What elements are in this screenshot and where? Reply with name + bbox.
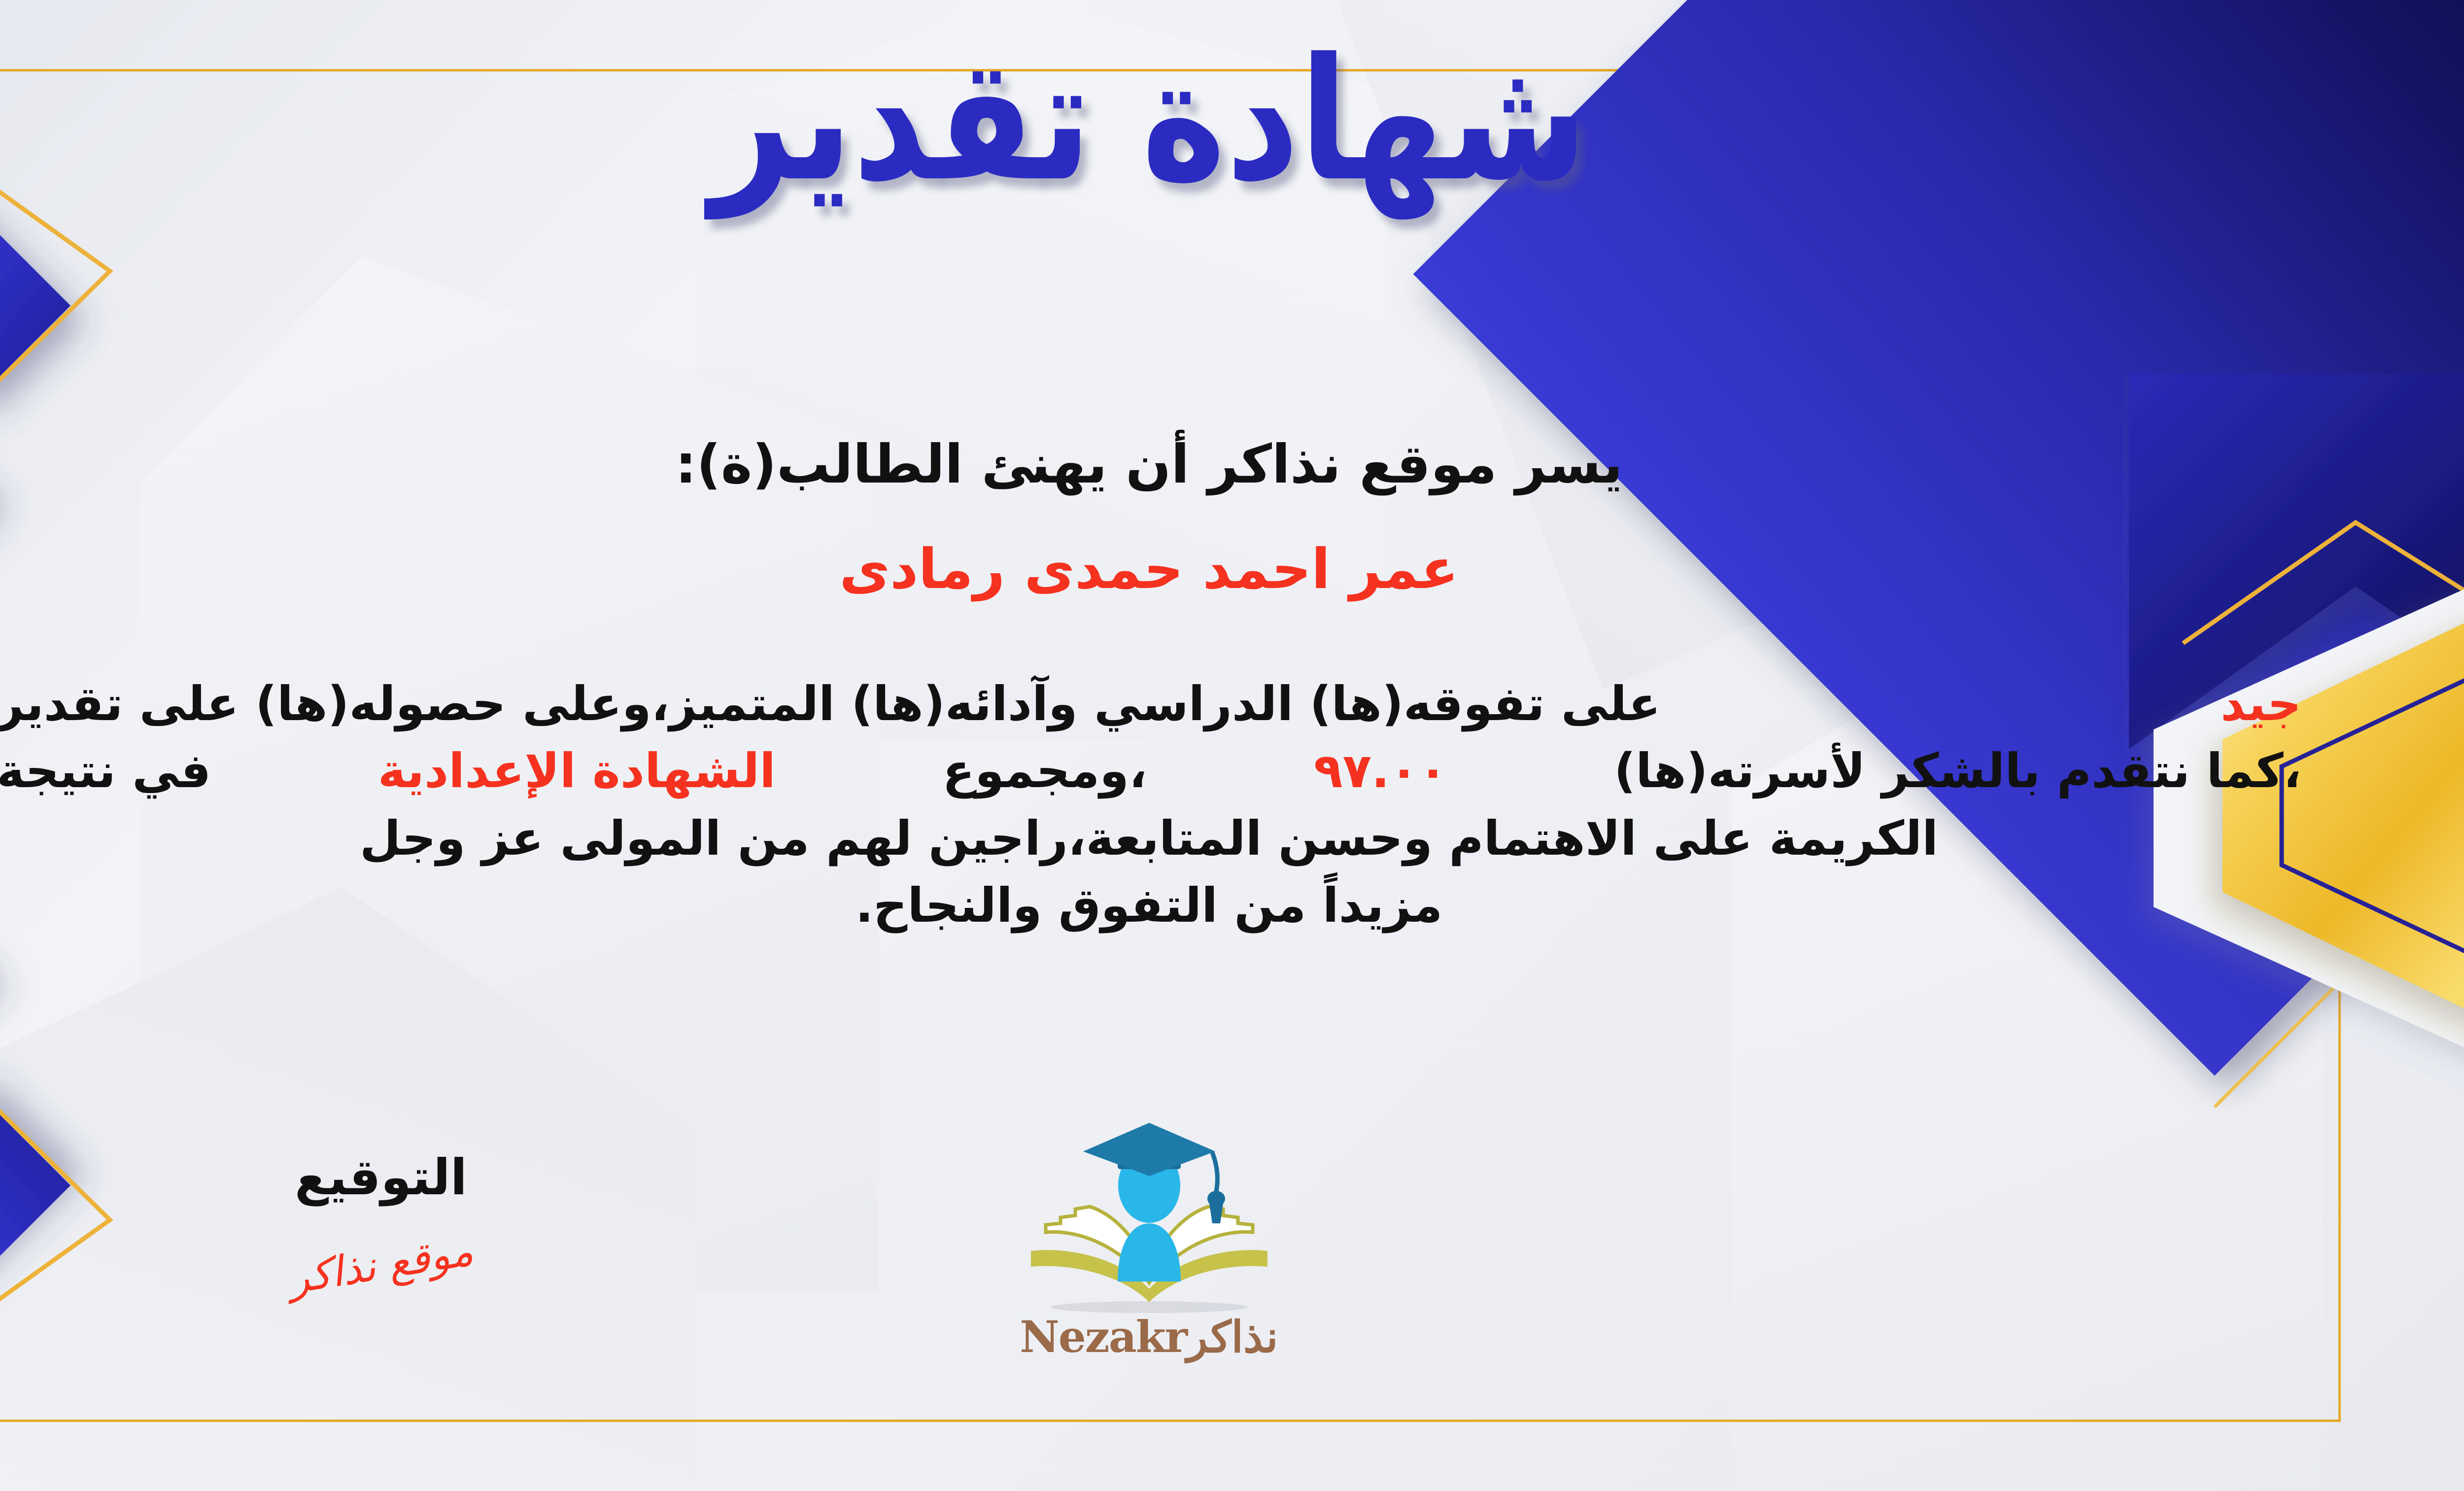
body-line-2: ،كما نتقدم بالشكر لأسرته(ها) ٩٧.٠٠ ،ومجم… bbox=[0, 737, 2301, 804]
body-line-1-text: على تفوقه(ها) الدراسي وآدائه(ها) المتميز… bbox=[0, 670, 1661, 737]
graduate-book-icon bbox=[1021, 1119, 1277, 1316]
body-line-2-tail: ،كما نتقدم بالشكر لأسرته(ها) bbox=[1614, 737, 2301, 804]
exam-name: الشهادة الإعدادية bbox=[378, 737, 776, 804]
intro-line: يسر موقع نذاكر أن يهنئ الطالب(ة): bbox=[0, 434, 2464, 495]
certificate-body: جيد على تفوقه(ها) الدراسي وآدائه(ها) الم… bbox=[0, 670, 2301, 939]
total-score: ٩٧.٠٠ bbox=[1314, 737, 1447, 804]
body-line-3: الكريمة على الاهتمام وحسن المتابعة،راجين… bbox=[0, 805, 2301, 872]
body-line-1: جيد على تفوقه(ها) الدراسي وآدائه(ها) الم… bbox=[0, 670, 2301, 737]
body-line-2-head: في نتيجة bbox=[0, 737, 211, 804]
student-name: عمر احمد حمدى رمادى bbox=[0, 537, 2464, 601]
certificate-title: شهادة تقدير bbox=[0, 36, 2464, 205]
body-line-2-mid: ،ومجموع bbox=[943, 737, 1147, 804]
grade-value: جيد bbox=[2221, 670, 2301, 737]
certificate-content: شهادة تقدير يسر موقع نذاكر أن يهنئ الطال… bbox=[0, 0, 2464, 1491]
signature-block: التوقيع موقع نذاكر bbox=[208, 1148, 553, 1289]
signature-label: التوقيع bbox=[208, 1148, 553, 1206]
certificate-page: شهادة تقدير يسر موقع نذاكر أن يهنئ الطال… bbox=[0, 0, 2464, 1491]
signature-mark: موقع نذاكر bbox=[285, 1226, 477, 1303]
body-line-4: مزيداً من التفوق والنجاح. bbox=[0, 872, 2301, 939]
brand-logo: نذاكرNezakr bbox=[962, 1119, 1336, 1362]
brand-logo-text: نذاكرNezakr bbox=[962, 1311, 1336, 1362]
